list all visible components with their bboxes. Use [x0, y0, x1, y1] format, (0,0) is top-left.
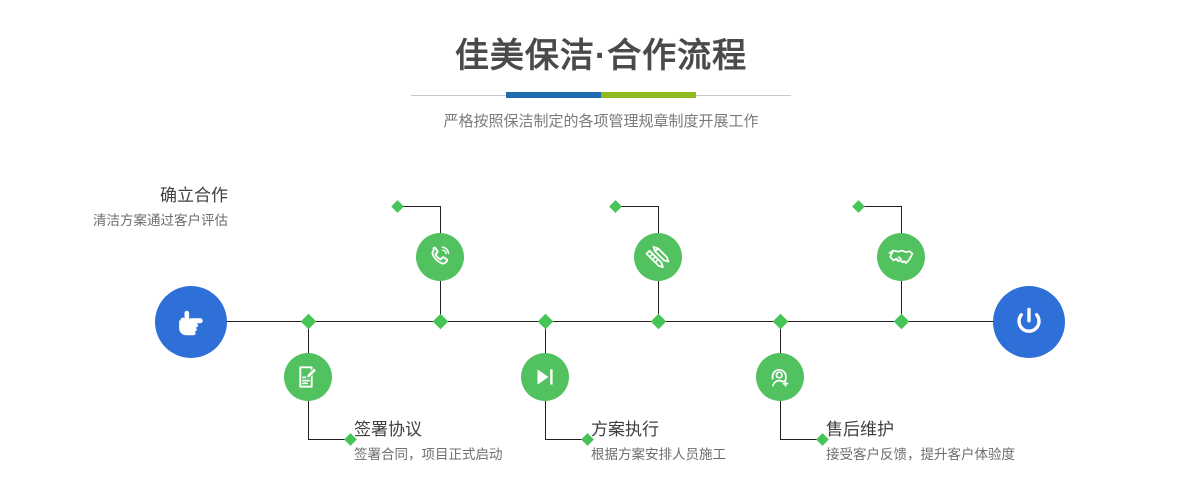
timeline-start-node[interactable] [155, 286, 227, 358]
step-title: 确立合作 [93, 185, 228, 207]
connector-diamond [391, 200, 404, 213]
connector-diamond [609, 200, 622, 213]
step-label-4: 方案执行 根据方案安排人员施工 [591, 419, 726, 465]
timeline-end-node[interactable] [993, 286, 1065, 358]
step-icon-customer-service[interactable] [756, 353, 804, 401]
pointing-hand-icon [171, 302, 211, 342]
step-title: 方案执行 [591, 419, 726, 441]
step-label-2: 签署协议 签署合同，项目正式启动 [354, 419, 503, 465]
document-sign-icon [294, 363, 322, 391]
step-title: 售后维护 [826, 419, 1015, 441]
step-label-5: 确立合作 清洁方案通过客户评估 [93, 185, 228, 231]
step-icon-pencil-design[interactable] [634, 233, 682, 281]
axis-marker [538, 314, 554, 330]
step-title: 签署协议 [354, 419, 503, 441]
handshake-icon [887, 243, 915, 271]
axis-marker [651, 314, 667, 330]
step-desc: 根据方案安排人员施工 [591, 445, 726, 465]
play-execute-icon [531, 363, 559, 391]
connector-diamond [852, 200, 865, 213]
step-desc: 接受客户反馈，提升客户体验度 [826, 445, 1015, 465]
step-desc: 清洁方案通过客户评估 [93, 211, 228, 231]
step-icon-document-sign[interactable] [284, 353, 332, 401]
cooperation-process-infographic: 佳美保洁·合作流程 严格按照保洁制定的各项管理规章制度开展工作 [0, 0, 1202, 502]
step-icon-play-execute[interactable] [521, 353, 569, 401]
axis-marker [773, 314, 789, 330]
process-timeline: 电话咨询 阐明基本情况和需求 签署协议 签署合同， [0, 0, 1202, 502]
phone-call-icon [426, 243, 454, 271]
step-label-6: 售后维护 接受客户反馈，提升客户体验度 [826, 419, 1015, 465]
connector-horizontal [616, 206, 658, 207]
pencil-design-icon [644, 243, 672, 271]
step-icon-phone-call[interactable] [416, 233, 464, 281]
step-desc: 签署合同，项目正式启动 [354, 445, 503, 465]
power-icon [1009, 302, 1049, 342]
connector-horizontal [398, 206, 440, 207]
customer-service-icon [766, 363, 794, 391]
axis-marker [301, 314, 317, 330]
connector-horizontal [859, 206, 901, 207]
axis-marker [433, 314, 449, 330]
step-icon-handshake[interactable] [877, 233, 925, 281]
axis-marker [894, 314, 910, 330]
